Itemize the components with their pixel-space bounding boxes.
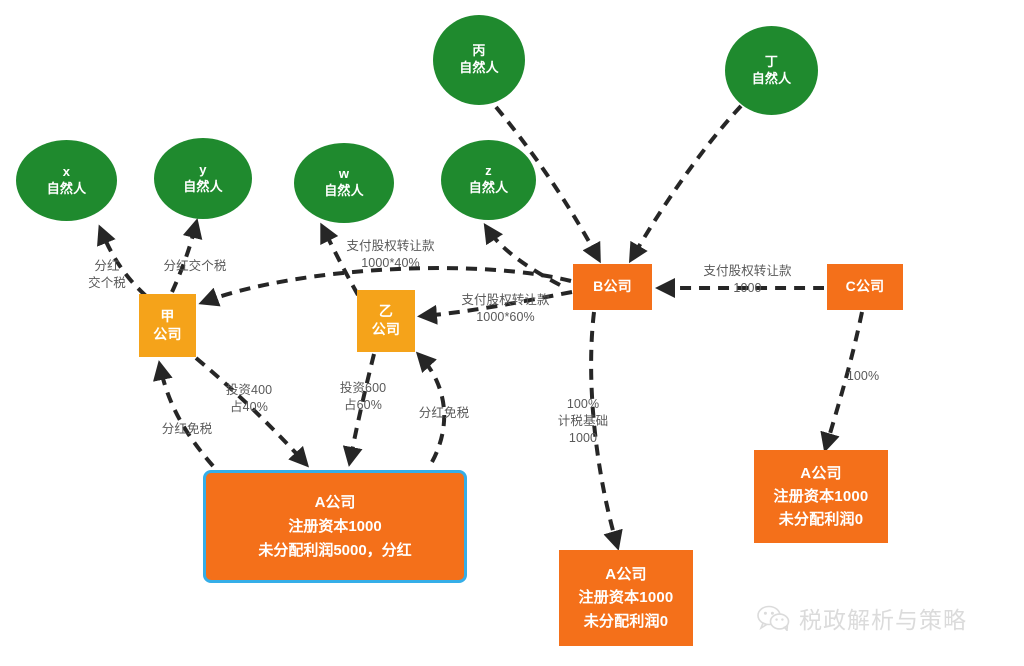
- node-person-ding[interactable]: 丁 自然人: [725, 26, 818, 115]
- edge-label-yi-invest: 投资600 占60%: [324, 380, 402, 414]
- node-label-line2: 公司: [372, 321, 400, 339]
- node-label-sub: 自然人: [183, 179, 223, 196]
- node-company-a-main[interactable]: A公司 注册资本1000 未分配利润5000，分红: [203, 470, 467, 583]
- edge-label-b-basis: 100% 计税基础 1000: [545, 396, 621, 447]
- node-label-name: y: [199, 162, 206, 179]
- node-company-a-under-c[interactable]: A公司 注册资本1000 未分配利润0: [754, 450, 888, 543]
- node-label-name: x: [63, 164, 70, 181]
- edge-label-x-dividend: 分红 交个税: [72, 258, 142, 292]
- node-label-line1: A公司: [605, 563, 646, 586]
- edge-label-transfer-c: 支付股权转让款 1000: [685, 263, 810, 297]
- diagram-canvas: 丙 自然人 丁 自然人 x 自然人 y 自然人 w 自然人 z 自然人 甲 公司…: [0, 0, 1024, 666]
- node-label-line3: 未分配利润0: [584, 610, 669, 633]
- node-label-sub: 自然人: [752, 71, 792, 88]
- node-label-line1: C公司: [846, 278, 885, 296]
- node-label-name: 丙: [472, 43, 485, 60]
- wechat-icon: [757, 605, 791, 631]
- edge-label-jia-invest: 投资400 占40%: [210, 382, 288, 416]
- node-label-line3: 未分配利润5000，分红: [258, 539, 411, 563]
- edge-ding-to-b: [632, 106, 741, 258]
- node-label-sub: 自然人: [459, 60, 499, 77]
- node-label-line2: 注册资本1000: [579, 586, 674, 609]
- edge-label-yi-taxfree: 分红免税: [408, 405, 480, 422]
- node-label-name: 丁: [765, 54, 778, 71]
- node-company-yi[interactable]: 乙 公司: [357, 290, 415, 352]
- node-label-sub: 自然人: [469, 180, 509, 197]
- edge-label-jia-taxfree: 分红免税: [151, 421, 223, 438]
- node-label-line2: 公司: [153, 326, 181, 344]
- edge-label-c-pct: 100%: [839, 368, 887, 385]
- node-label-line1: B公司: [593, 278, 632, 296]
- node-person-bing[interactable]: 丙 自然人: [433, 15, 525, 105]
- node-label-line2: 注册资本1000: [288, 515, 381, 539]
- node-person-y[interactable]: y 自然人: [154, 138, 252, 219]
- node-company-a-under-b[interactable]: A公司 注册资本1000 未分配利润0: [559, 550, 693, 646]
- edge-label-transfer-60: 支付股权转让款 1000*60%: [443, 292, 568, 326]
- edge-label-transfer-40: 支付股权转让款 1000*40%: [328, 238, 453, 272]
- node-company-a-main-inner: A公司 注册资本1000 未分配利润5000，分红: [209, 476, 461, 577]
- watermark: 税政解析与策略: [757, 601, 967, 635]
- node-label-sub: 自然人: [47, 181, 87, 198]
- node-label-line1: A公司: [315, 491, 356, 515]
- node-person-w[interactable]: w 自然人: [294, 143, 394, 223]
- edge-label-y-dividend: 分红交个税: [140, 258, 250, 275]
- node-company-b[interactable]: B公司: [573, 264, 652, 310]
- watermark-text: 税政解析与策略: [799, 601, 967, 635]
- node-label-line2: 注册资本1000: [774, 485, 869, 508]
- node-person-x[interactable]: x 自然人: [16, 140, 117, 221]
- node-label-sub: 自然人: [324, 183, 364, 200]
- node-person-z[interactable]: z 自然人: [441, 140, 536, 220]
- node-label-line1: 乙: [379, 303, 393, 321]
- node-label-name: z: [485, 163, 492, 180]
- node-label-line1: 甲: [160, 308, 174, 326]
- node-label-line1: A公司: [800, 462, 841, 485]
- edge-a-to-jia: [160, 366, 213, 466]
- node-company-c[interactable]: C公司: [827, 264, 903, 310]
- node-label-name: w: [339, 166, 349, 183]
- edge-to-z: [487, 228, 560, 285]
- node-label-line3: 未分配利润0: [779, 508, 864, 531]
- node-company-jia[interactable]: 甲 公司: [139, 294, 196, 357]
